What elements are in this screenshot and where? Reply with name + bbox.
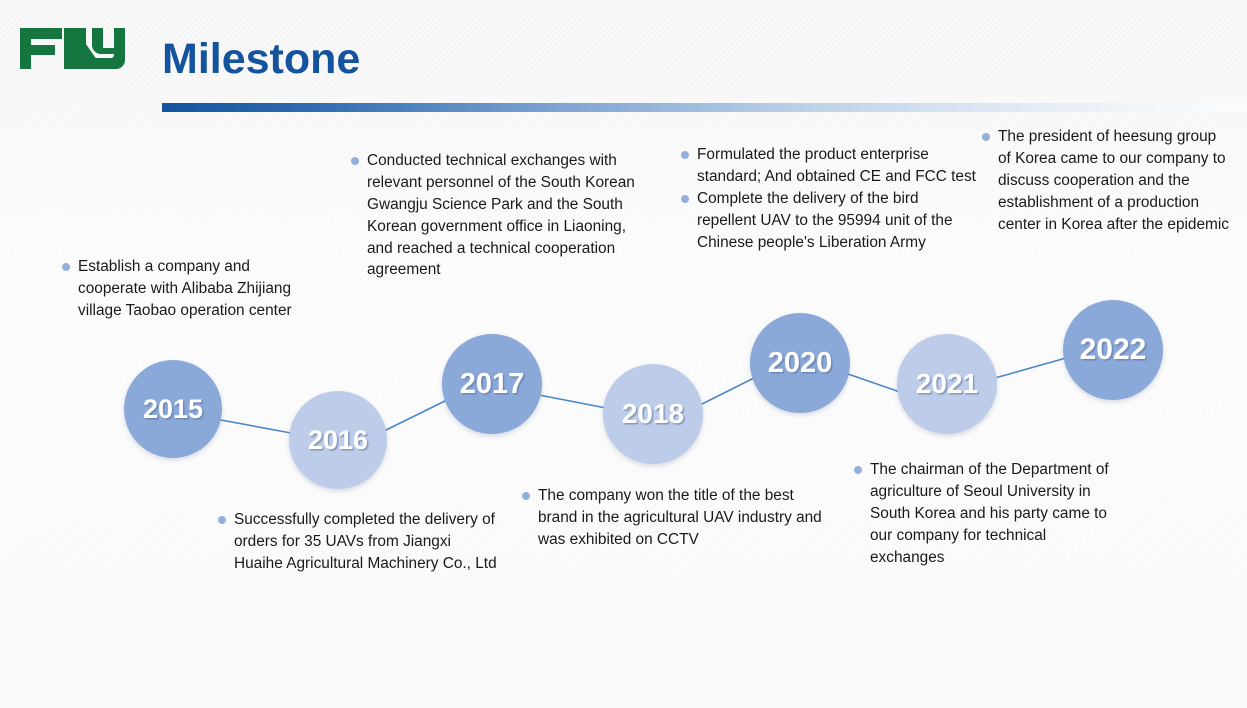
timeline-node-2022[interactable]: 2022 [1063, 300, 1163, 400]
bullet-item: Complete the delivery of the bird repell… [681, 188, 977, 254]
bullet-dot-icon [982, 133, 990, 141]
company-logo-fny [18, 22, 126, 74]
bullet-dot-icon [854, 466, 862, 474]
timeline-node-2017[interactable]: 2017 [442, 334, 542, 434]
bullet-dot-icon [351, 157, 359, 165]
timeline-node-2015[interactable]: 2015 [124, 360, 222, 458]
bullet-item: The company won the title of the best br… [522, 485, 822, 551]
bullet-item: Successfully completed the delivery of o… [218, 509, 498, 575]
bullet-dot-icon [681, 151, 689, 159]
milestone-text-2018: The company won the title of the best br… [522, 485, 822, 551]
bullet-item: Establish a company and cooperate with A… [62, 256, 320, 322]
timeline-node-2016[interactable]: 2016 [289, 391, 387, 489]
bullet-dot-icon [218, 516, 226, 524]
page-title: Milestone [162, 38, 360, 81]
milestone-text-2016: Successfully completed the delivery of o… [218, 509, 498, 575]
bullet-item: The chairman of the Department of agricu… [854, 459, 1124, 568]
bullet-item: Formulated the product enterprise standa… [681, 144, 977, 188]
milestone-text-2017: Conducted technical exchanges with relev… [351, 150, 647, 281]
bullet-dot-icon [62, 263, 70, 271]
timeline-node-2021[interactable]: 2021 [897, 334, 997, 434]
timeline-node-2018[interactable]: 2018 [603, 364, 703, 464]
bullet-item: Conducted technical exchanges with relev… [351, 150, 647, 281]
bullet-item: The president of heesung group of Korea … [982, 126, 1233, 235]
milestone-text-2021: The chairman of the Department of agricu… [854, 459, 1124, 568]
title-underline-rule [162, 103, 1247, 112]
bullet-dot-icon [522, 492, 530, 500]
timeline-node-2020[interactable]: 2020 [750, 313, 850, 413]
milestone-text-2020: Formulated the product enterprise standa… [681, 144, 977, 253]
milestone-text-2015: Establish a company and cooperate with A… [62, 256, 320, 322]
milestone-text-2022: The president of heesung group of Korea … [982, 126, 1233, 235]
bullet-dot-icon [681, 195, 689, 203]
